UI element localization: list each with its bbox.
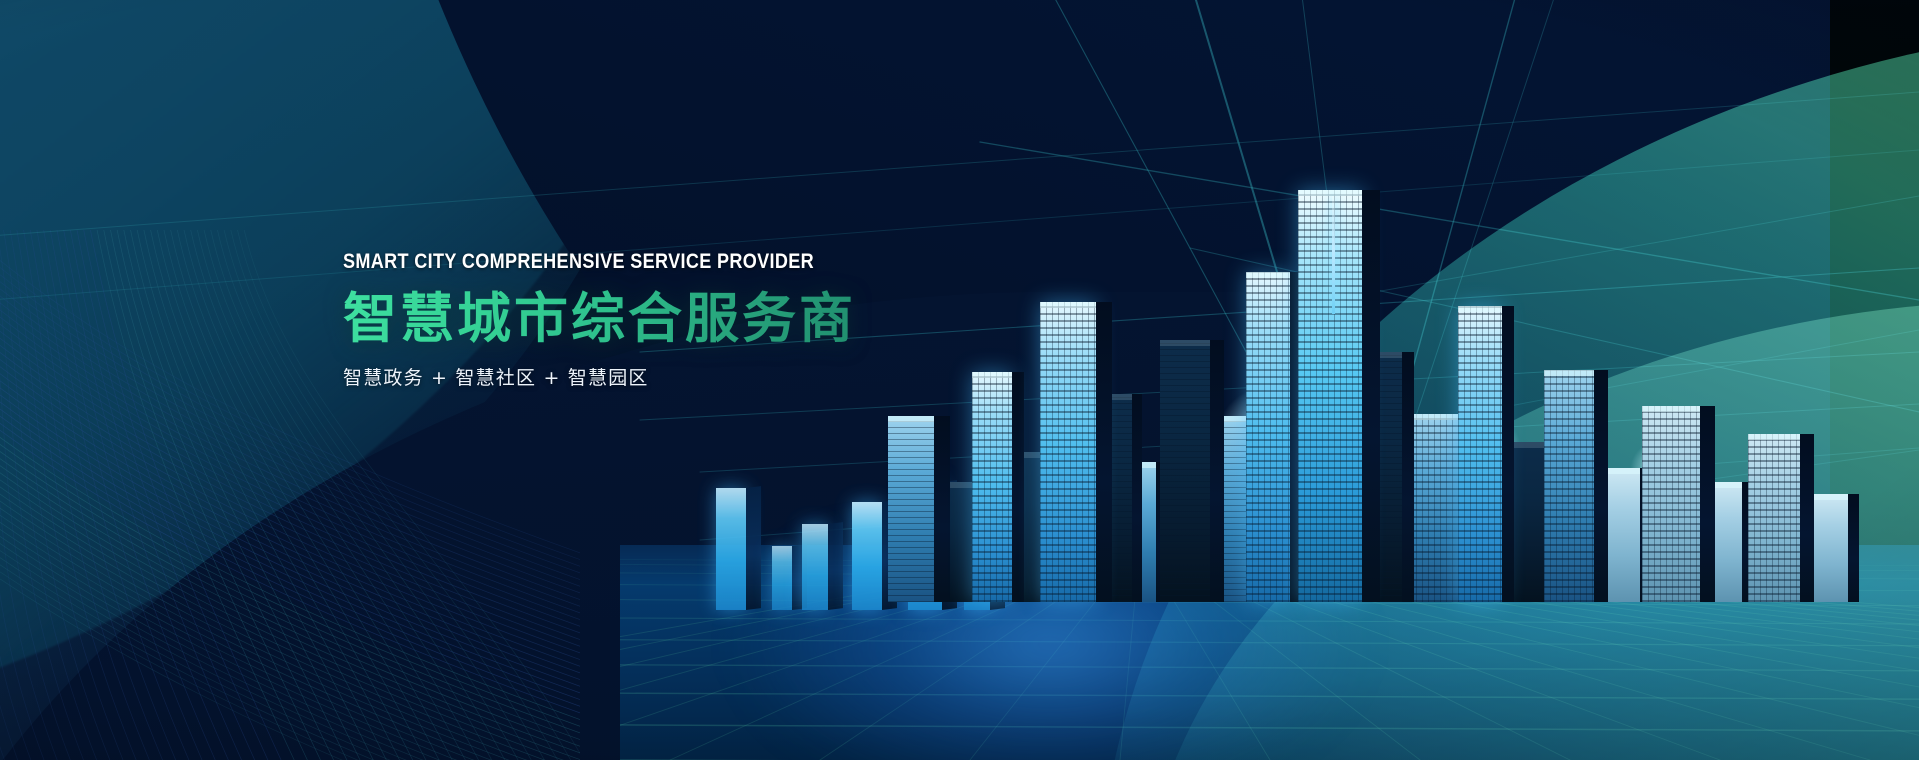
building — [1160, 340, 1210, 602]
building-side — [1848, 494, 1859, 602]
building — [1544, 370, 1594, 602]
building — [888, 416, 934, 602]
building-side — [1210, 340, 1224, 602]
tower-antenna-spire — [1332, 196, 1335, 314]
building-face — [1160, 340, 1210, 602]
building — [1642, 406, 1700, 602]
building-side — [1402, 352, 1414, 602]
banner-subline-text: 智慧政务 + 智慧社区 + 智慧园区 — [343, 363, 891, 390]
banner-eyebrow-text: SMART CITY COMPREHENSIVE SERVICE PROVIDE… — [343, 250, 814, 274]
building — [1040, 302, 1096, 602]
building-roof-highlight — [1040, 302, 1096, 308]
building-face — [1544, 370, 1594, 602]
building-side — [1594, 370, 1608, 602]
building-face — [972, 372, 1012, 602]
building-face — [1040, 302, 1096, 602]
building-roof-highlight — [888, 416, 934, 422]
building-side — [934, 416, 950, 602]
foreground-light-slab — [716, 488, 746, 610]
building — [1298, 190, 1362, 602]
building-side — [1502, 306, 1514, 602]
building-side — [1096, 302, 1112, 602]
slab-side-face — [828, 522, 843, 610]
foreground-light-slab — [852, 502, 882, 610]
foreground-light-slab — [772, 546, 792, 610]
building-face — [1246, 272, 1290, 602]
building-face — [888, 416, 934, 602]
building — [1246, 272, 1290, 602]
banner-copy-block: SMART CITY COMPREHENSIVE SERVICE PROVIDE… — [343, 250, 891, 390]
building-face — [1748, 434, 1800, 602]
building-face — [1458, 306, 1502, 602]
building-roof-highlight — [1544, 370, 1594, 376]
building-face — [1642, 406, 1700, 602]
building — [1458, 306, 1502, 602]
building-roof-highlight — [1642, 406, 1700, 412]
building-roof-highlight — [1160, 340, 1210, 346]
building-side — [1012, 372, 1024, 602]
building-face — [1298, 190, 1362, 602]
building — [972, 372, 1012, 602]
banner-headline: 智慧城市综合服务商 — [343, 290, 891, 347]
building-roof-highlight — [972, 372, 1012, 378]
building-roof-highlight — [1458, 306, 1502, 312]
building-roof-highlight — [1298, 190, 1362, 196]
slab-side-face — [746, 486, 761, 610]
smart-city-banner: SMART CITY COMPREHENSIVE SERVICE PROVIDE… — [0, 0, 1919, 760]
building-roof-highlight — [1246, 272, 1290, 278]
building-side — [1700, 406, 1715, 602]
building-side — [1362, 190, 1380, 602]
building — [1748, 434, 1800, 602]
foreground-light-slab — [802, 524, 828, 610]
building-side — [1132, 394, 1142, 602]
building-side — [1800, 434, 1814, 602]
building-roof-highlight — [1748, 434, 1800, 440]
